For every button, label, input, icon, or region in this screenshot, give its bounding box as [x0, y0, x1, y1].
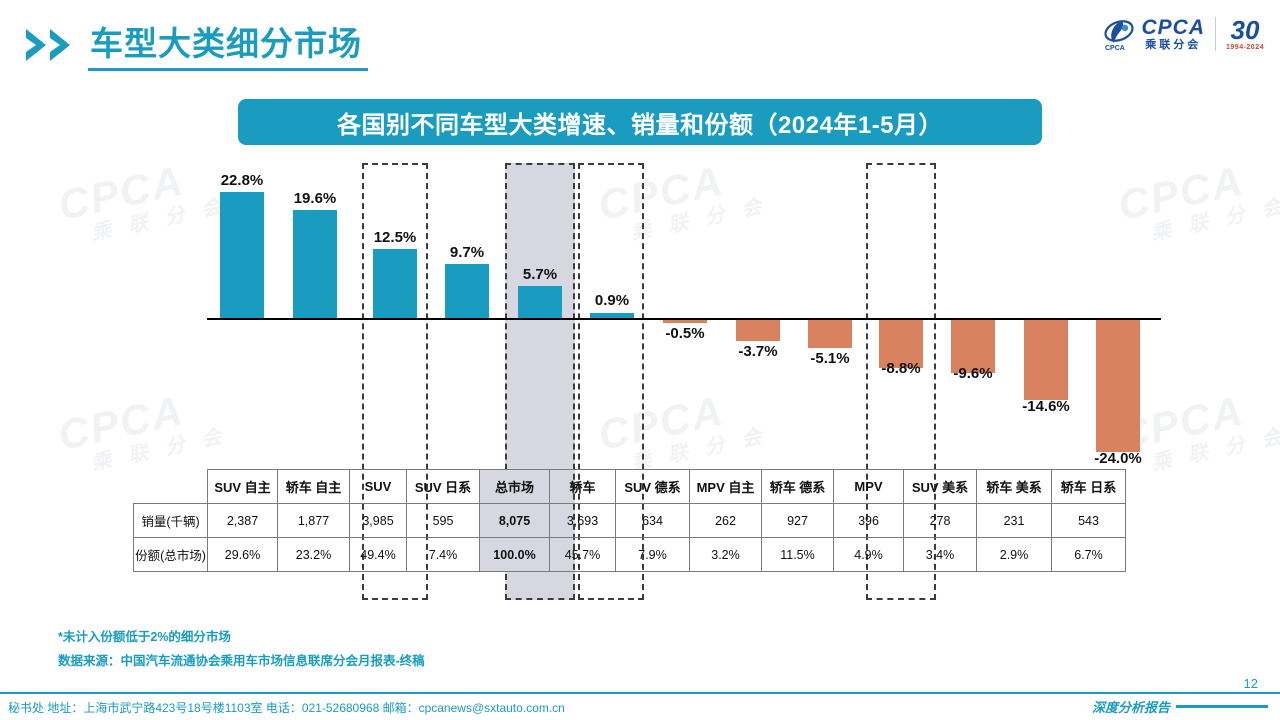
- table-row-label: 份额(总市场): [134, 538, 208, 572]
- table-cell: 45.7%: [550, 538, 616, 572]
- chart-title-banner: 各国别不同车型大类增速、销量和份额（2024年1-5月）: [238, 99, 1042, 145]
- table-col-header: SUV 自主: [208, 470, 278, 504]
- table-cell: 278: [904, 504, 977, 538]
- table-cell: 262: [690, 504, 762, 538]
- bar-sedan-zizhu: [293, 210, 337, 318]
- bar-sedan-dexi: [808, 320, 852, 348]
- data-table: SUV 自主 轿车 自主 SUV SUV 日系 总市场 轿车 SUV 德系 MP…: [133, 469, 1126, 572]
- table-cell: 634: [616, 504, 690, 538]
- table-cell: 2,387: [208, 504, 278, 538]
- footer-brand-text: 深度分析报告: [1092, 697, 1170, 716]
- bar-label-suv-dexi: -0.5%: [643, 325, 727, 342]
- table-row: 销量(千辆) 2,387 1,877 3,985 595 8,075 3,693…: [134, 504, 1126, 538]
- cpca-emblem-icon: CPCA: [1102, 16, 1136, 52]
- cpca-logo-mark: CPCA CPCA 乘联分会: [1102, 16, 1206, 52]
- table-col-header: 轿车 德系: [762, 470, 834, 504]
- table-cell: 11.5%: [762, 538, 834, 572]
- table-corner-cell: [134, 470, 208, 504]
- table-cell: 4.9%: [834, 538, 904, 572]
- table-cell: 3,985: [350, 504, 407, 538]
- table-cell: 1,877: [278, 504, 350, 538]
- bar-total-market: [518, 286, 562, 318]
- table-col-header: SUV 日系: [407, 470, 480, 504]
- bar-sedan-meixi: [1024, 320, 1068, 400]
- bar-suv-rixi: [445, 264, 489, 318]
- bar-label-sedan-meixi: -14.6%: [1000, 398, 1092, 415]
- cpca-logo-main-text: CPCA: [1142, 17, 1206, 38]
- table-col-header: SUV: [350, 470, 407, 504]
- bar-sedan-rixi: [1096, 320, 1140, 452]
- table-cell: 49.4%: [350, 538, 407, 572]
- table-cell: 396: [834, 504, 904, 538]
- table-cell: 3.4%: [904, 538, 977, 572]
- table-col-header: SUV 美系: [904, 470, 977, 504]
- footnote-line-2: 数据来源：中国汽车流通协会乘用车市场信息联席分会月报表-终稿: [58, 649, 425, 673]
- table-cell: 3.2%: [690, 538, 762, 572]
- table-cell: 23.2%: [278, 538, 350, 572]
- table-cell: 3,693: [550, 504, 616, 538]
- table-cell: 2.9%: [977, 538, 1052, 572]
- footer-contact: 秘书处 地址：上海市武宁路423号18号楼1103室 电话：021-526809…: [8, 699, 565, 716]
- footer-divider: [0, 692, 1280, 694]
- table-col-header: MPV: [834, 470, 904, 504]
- table-row-label: 销量(千辆): [134, 504, 208, 538]
- bar-label-suv-meixi: -9.6%: [931, 365, 1015, 382]
- bar-suv-dexi: [663, 320, 707, 323]
- table-cell: 7.9%: [616, 538, 690, 572]
- table-cell: 595: [407, 504, 480, 538]
- anniversary-badge: 30 1994-2024: [1226, 17, 1264, 51]
- slide-root: CPCA 乘 联 分 会 CPCA 乘 联 分 会 CPCA 乘 联 分 会 C…: [0, 0, 1280, 720]
- anniversary-years: 1994-2024: [1226, 44, 1264, 51]
- table-cell: 543: [1052, 504, 1126, 538]
- bar-label-suv-zizhu: 22.8%: [200, 172, 284, 189]
- footer-brand-rule: [1176, 705, 1268, 708]
- bar-suv-zizhu: [220, 192, 264, 318]
- bar-label-sedan-zizhu: 19.6%: [273, 190, 357, 207]
- cpca-logo: CPCA CPCA 乘联分会 30 1994-2024: [1102, 16, 1265, 52]
- page-number: 12: [1244, 676, 1258, 691]
- logo-divider: [1215, 17, 1216, 51]
- cpca-logo-sub-text: 乘联分会: [1145, 40, 1201, 51]
- table-cell: 7.4%: [407, 538, 480, 572]
- table-col-header: 轿车 日系: [1052, 470, 1126, 504]
- table-cell: 29.6%: [208, 538, 278, 572]
- bar-suv: [373, 249, 417, 318]
- table-col-header: 总市场: [480, 470, 550, 504]
- cpca-logo-text: CPCA 乘联分会: [1142, 17, 1206, 51]
- bar-label-sedan: 0.9%: [570, 292, 654, 309]
- page-title: 车型大类细分市场: [88, 22, 368, 71]
- table-cell: 231: [977, 504, 1052, 538]
- double-chevron-right-icon: [24, 28, 86, 62]
- footnotes: *未计入份额低于2%的细分市场 数据来源：中国汽车流通协会乘用车市场信息联席分会…: [58, 625, 425, 673]
- table-cell: 6.7%: [1052, 538, 1126, 572]
- bar-label-sedan-rixi: -24.0%: [1072, 450, 1164, 467]
- table-col-header: 轿车 美系: [977, 470, 1052, 504]
- table-cell: 100.0%: [480, 538, 550, 572]
- zero-axis-line: [207, 318, 1161, 320]
- table-col-header: SUV 德系: [616, 470, 690, 504]
- bar-label-total-market: 5.7%: [498, 266, 582, 283]
- table-header-row: SUV 自主 轿车 自主 SUV SUV 日系 总市场 轿车 SUV 德系 MP…: [134, 470, 1126, 504]
- slide-header: 车型大类细分市场 CPCA CPCA 乘联分会 30 1994-2024: [0, 0, 1280, 88]
- svg-text:CPCA: CPCA: [1105, 45, 1125, 52]
- table-cell: 8,075: [480, 504, 550, 538]
- footnote-line-1: *未计入份额低于2%的细分市场: [58, 625, 425, 649]
- table-row: 份额(总市场) 29.6% 23.2% 49.4% 7.4% 100.0% 45…: [134, 538, 1126, 572]
- table-col-header: 轿车 自主: [278, 470, 350, 504]
- table-col-header: 轿车: [550, 470, 616, 504]
- table-cell: 927: [762, 504, 834, 538]
- anniversary-number: 30: [1231, 17, 1260, 43]
- footer-brand: 深度分析报告: [1092, 697, 1268, 716]
- table-col-header: MPV 自主: [690, 470, 762, 504]
- bar-label-suv-rixi: 9.7%: [425, 244, 509, 261]
- bar-mpv-zizhu: [736, 320, 780, 341]
